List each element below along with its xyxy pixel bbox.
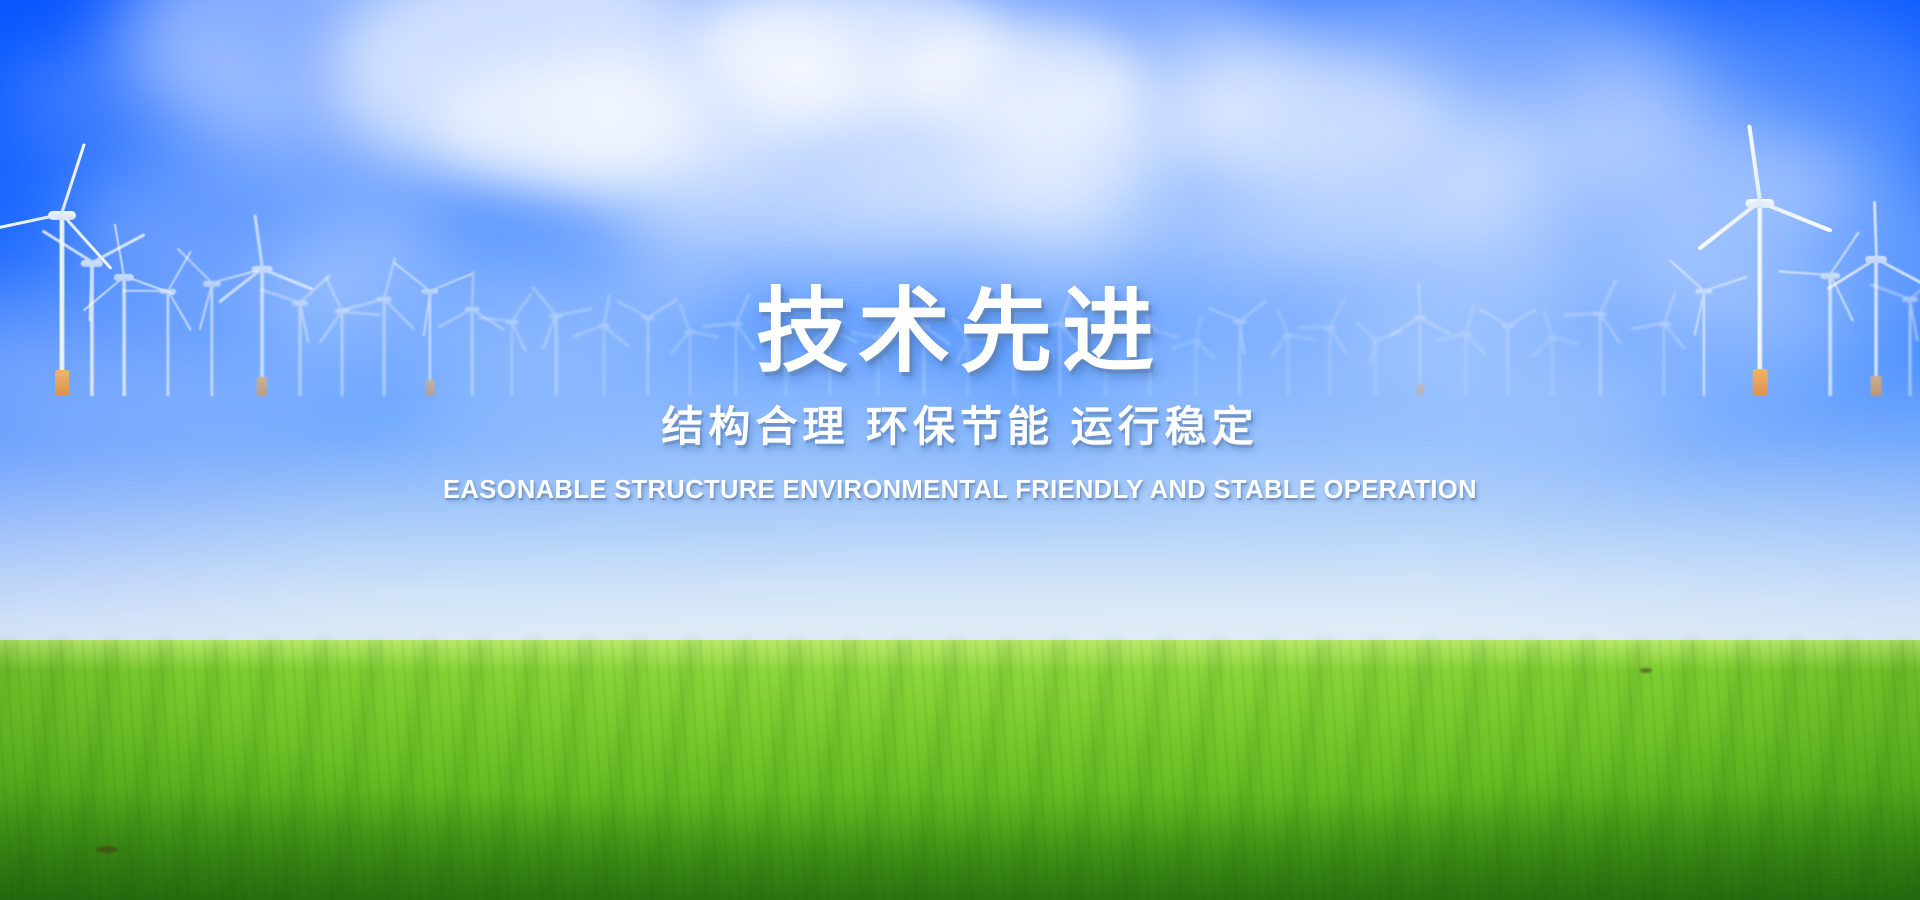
banner-headline: 技术先进 <box>756 286 1164 378</box>
banner-subheadline: 结构合理 环保节能 运行稳定 <box>661 404 1258 450</box>
banner-copy: 技术先进 结构合理 环保节能 运行稳定 EASONABLE STRUCTURE … <box>0 0 1920 900</box>
hero-banner: 技术先进 结构合理 环保节能 运行稳定 EASONABLE STRUCTURE … <box>0 0 1920 900</box>
banner-english-tagline: EASONABLE STRUCTURE ENVIRONMENTAL FRIEND… <box>443 476 1477 504</box>
